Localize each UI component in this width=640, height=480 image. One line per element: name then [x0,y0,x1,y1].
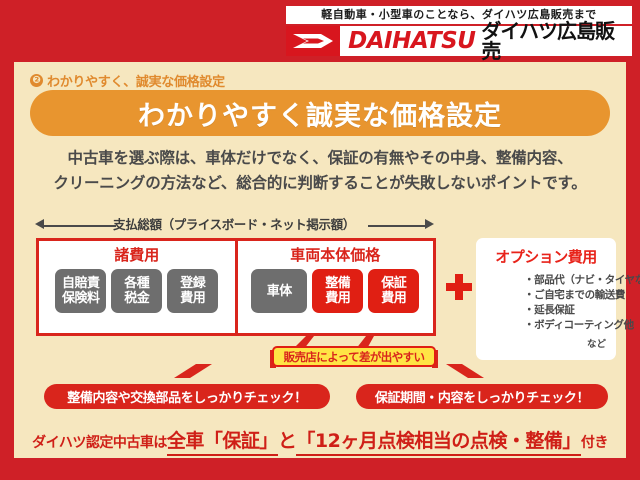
chip-line-2: 費用 [180,291,205,306]
chip-line-1: 車体 [267,284,292,299]
plus-sign-icon [446,274,472,300]
option-item: ・ご自宅までの輸送費 [524,288,616,303]
chip-shatai: 車体 [251,269,307,313]
chip-line-1: 自賠責 [62,276,100,291]
price-column-vehicle-chips: 車体 整備 費用 保証 費用 [251,269,419,313]
lead-line-2: クリーニングの方法など、総合的に判断することが失敗しないポイントです。 [14,171,626,196]
chip-line-2: 保険料 [62,291,100,306]
option-items-list: ・部品代（ナビ・タイヤなど） ・ご自宅までの輸送費 ・延長保証 ・ボディコーティ… [484,273,616,333]
chip-line-1: 整備 [325,276,350,291]
chip-line-2: 税金 [124,291,149,306]
price-column-fees-title: 諸費用 [114,246,159,264]
section-subtitle-text: わかりやすく、誠実な価格設定 [47,71,225,90]
option-item: ・部品代（ナビ・タイヤなど） [524,273,616,288]
option-cost-panel: オプション費用 ・部品代（ナビ・タイヤなど） ・ご自宅までの輸送費 ・延長保証 … [476,238,616,360]
brand-block: 軽自動車・小型車のことなら、ダイハツ広島販売まで DAIHATSU ダイハツ広島… [286,6,632,56]
chip-hoshou-hiyou: 保証 費用 [368,269,419,313]
footer-text: ダイハツ認定中古車は 全車「保証」 と 「12ヶ月点検相当の点検・整備」 付き [32,426,608,456]
footer-part-4: 「12ヶ月点検相当の点検・整備」 [296,426,580,456]
chip-touroku-hiyou: 登録 費用 [167,269,218,313]
option-footnote: など [476,336,606,350]
option-item: ・延長保証 [524,303,616,318]
footer-part-3: と [278,426,297,453]
lead-line-1: 中古車を選ぶ際は、車体だけでなく、保証の有無やその中身、整備内容、 [14,146,626,171]
chip-jibaiseki: 自賠責 保険料 [55,269,106,313]
page-header: 軽自動車・小型車のことなら、ダイハツ広島販売まで DAIHATSU ダイハツ広島… [0,0,640,62]
page-footer: ダイハツ認定中古車は 全車「保証」 と 「12ヶ月点検相当の点検・整備」 付き [14,424,626,458]
chip-line-1: 登録 [180,276,205,291]
check-pill-warranty: 保証期間・内容をしっかりチェック！ [356,384,608,409]
section-banner-title: わかりやすく誠実な価格設定 [138,94,502,133]
chip-line-2: 費用 [325,291,350,306]
brand-logo-row: DAIHATSU ダイハツ広島販売 [286,26,632,56]
arrow-right-line [368,225,426,227]
brand-name-jp: ダイハツ広島販売 [481,26,632,56]
section-number-badge: ❷ [30,74,43,87]
chip-line-2: 費用 [381,291,406,306]
price-column-vehicle: 車両本体価格 車体 整備 費用 保証 費用 [235,241,434,333]
check-pill-warranty-text: 保証期間・内容をしっかりチェック！ [375,387,589,406]
option-item: ・ボディコーティング他 [524,318,616,333]
price-column-fees-chips: 自賠責 保険料 各種 税金 登録 費用 [55,269,218,313]
footer-part-2: 全車「保証」 [167,426,278,456]
price-column-fees: 諸費用 自賠責 保険料 各種 税金 登録 費用 [39,241,235,333]
footer-part-5: 付き [581,432,608,452]
arrow-right-icon [425,219,434,229]
chip-seibi-hiyou: 整備 費用 [312,269,363,313]
option-panel-title: オプション費用 [476,246,616,267]
lead-paragraph: 中古車を選ぶ際は、車体だけでなく、保証の有無やその中身、整備内容、 クリーニング… [14,146,626,196]
price-column-vehicle-title: 車両本体価格 [290,246,380,264]
callout-difference: 販売店によって差が出やすい [272,346,436,367]
content-card: ❷ わかりやすく、誠実な価格設定 わかりやすく誠実な価格設定 中古車を選ぶ際は、… [14,62,626,424]
section-banner: わかりやすく誠実な価格設定 [30,90,610,136]
callout-text: 販売店によって差が出やすい [284,349,425,365]
daihatsu-d-logo-icon [286,26,340,56]
section-subtitle: ❷ わかりやすく、誠実な価格設定 [30,71,225,90]
price-breakdown-frame: 諸費用 自賠責 保険料 各種 税金 登録 費用 [36,238,436,336]
chip-line-1: 保証 [381,276,406,291]
check-pill-maintenance-text: 整備内容や交換部品をしっかりチェック！ [67,387,306,406]
total-price-range-label: 支払総額（プライスボード・ネット掲示額） [34,215,434,235]
check-pill-maintenance: 整備内容や交換部品をしっかりチェック！ [44,384,330,409]
chip-line-1: 各種 [124,276,149,291]
footer-part-1: ダイハツ認定中古車は [32,432,167,452]
brand-name-en: DAIHATSU [340,26,481,56]
advertisement-page: 軽自動車・小型車のことなら、ダイハツ広島販売まで DAIHATSU ダイハツ広島… [0,0,640,480]
chip-kakushu-zeikin: 各種 税金 [111,269,162,313]
